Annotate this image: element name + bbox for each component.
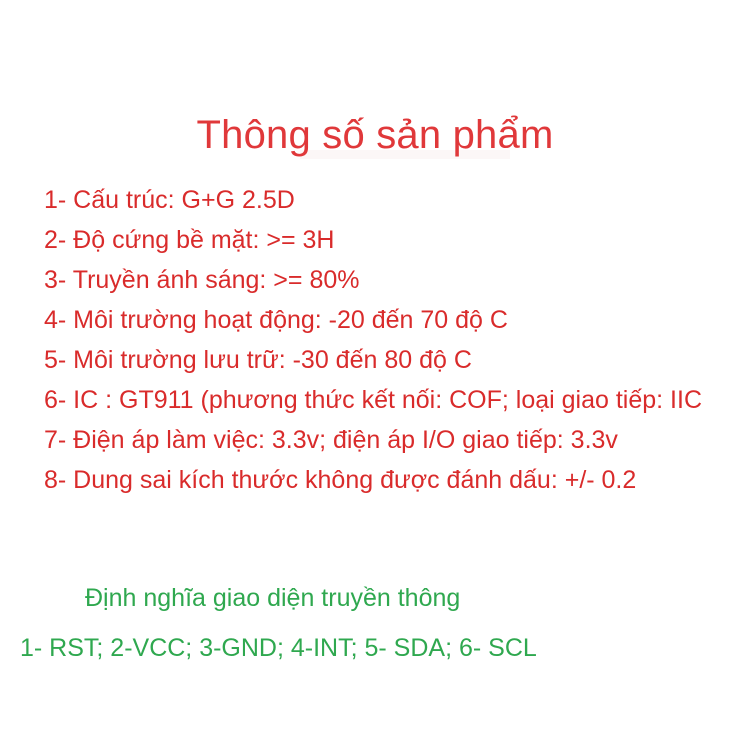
spec-line: 4- Môi trường hoạt động: -20 đến 70 độ C bbox=[44, 300, 744, 340]
spec-line: 7- Điện áp làm việc: 3.3v; điện áp I/O g… bbox=[44, 420, 744, 460]
spec-line: 1- Cấu trúc: G+G 2.5D bbox=[44, 180, 744, 220]
comms-interface-heading: Định nghĩa giao diện truyền thông bbox=[85, 580, 460, 616]
page-title: Thông số sản phẩm bbox=[0, 111, 750, 159]
spec-line: 6- IC : GT911 (phương thức kết nối: COF;… bbox=[44, 380, 744, 420]
spec-line: 8- Dung sai kích thước không được đánh d… bbox=[44, 460, 744, 500]
comms-pin-definition-line: 1- RST; 2-VCC; 3-GND; 4-INT; 5- SDA; 6- … bbox=[20, 630, 537, 666]
specification-list: 1- Cấu trúc: G+G 2.5D 2- Độ cứng bề mặt:… bbox=[44, 180, 744, 500]
spec-line: 3- Truyền ánh sáng: >= 80% bbox=[44, 260, 744, 300]
product-spec-sheet: Thông số sản phẩm 1- Cấu trúc: G+G 2.5D … bbox=[0, 0, 750, 750]
spec-line: 5- Môi trường lưu trữ: -30 đến 80 độ C bbox=[44, 340, 744, 380]
spec-line: 2- Độ cứng bề mặt: >= 3H bbox=[44, 220, 744, 260]
